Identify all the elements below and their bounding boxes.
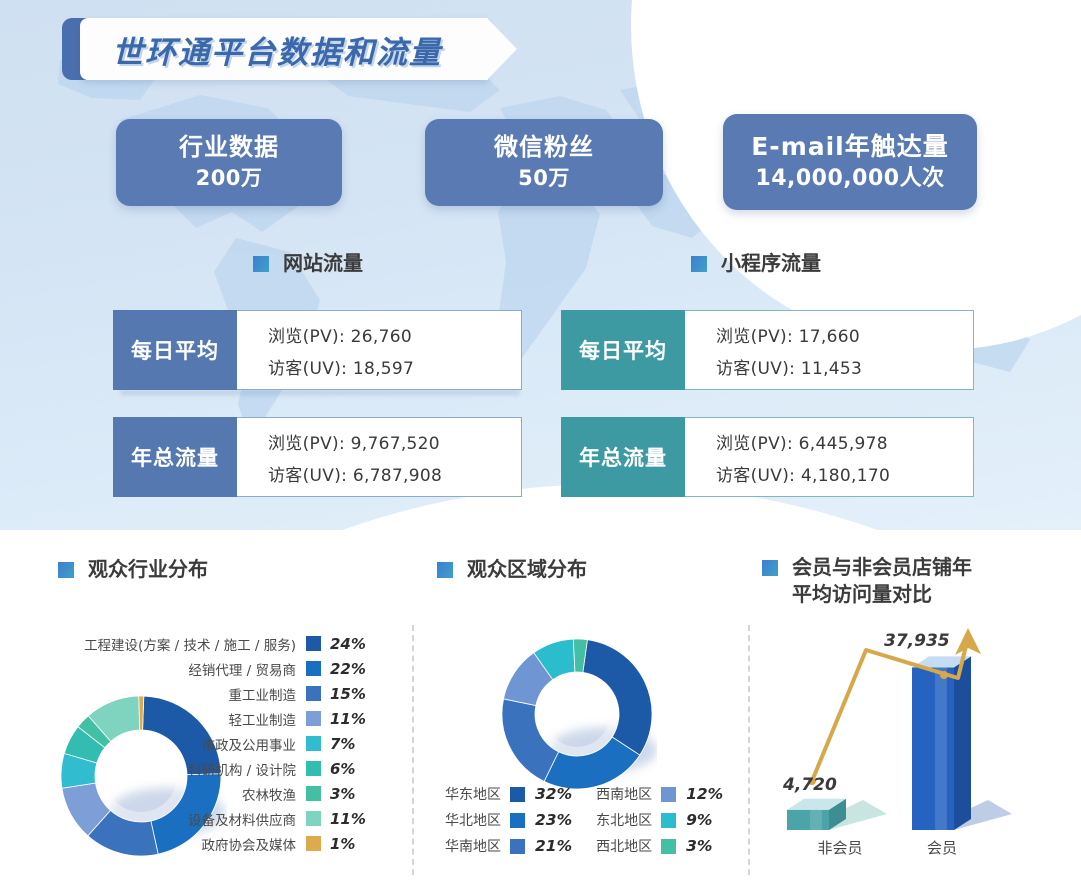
bar-front-member bbox=[912, 667, 954, 830]
legend-item: 设备及材料供应商11% bbox=[82, 806, 372, 831]
legend-item-label: 设备及材料供应商 bbox=[188, 809, 296, 829]
legend-item-value: 3% bbox=[676, 837, 747, 855]
traffic-row-pv: 浏览(PV): 9,767,520 bbox=[268, 429, 521, 454]
legend-item-value: 3% bbox=[330, 785, 372, 803]
legend-item-label: 东北地区 bbox=[596, 810, 661, 830]
traffic-card-website-daily: 每日平均 浏览(PV): 26,760 访客(UV): 18,597 bbox=[113, 310, 522, 390]
legend-item-value: 22% bbox=[330, 660, 372, 678]
arrow-mid-dot bbox=[940, 671, 948, 679]
legend-item-label: 经销代理 / 贸易商 bbox=[188, 659, 296, 679]
traffic-card-miniprogram-annual: 年总流量 浏览(PV): 6,445,978 访客(UV): 4,180,170 bbox=[561, 417, 974, 497]
legend-color-swatch bbox=[510, 787, 525, 802]
square-bullet-icon bbox=[762, 560, 778, 576]
legend-color-swatch bbox=[306, 786, 321, 801]
legend-item-label: 工程建设(方案 / 技术 / 施工 / 服务) bbox=[84, 634, 296, 654]
traffic-row-uv: 访客(UV): 4,180,170 bbox=[716, 461, 973, 486]
page-title: 世环通平台数据和流量 bbox=[112, 27, 442, 72]
stat-card-industry-data: 行业数据 200万 bbox=[116, 119, 342, 206]
legend-color-swatch bbox=[306, 761, 321, 776]
bar-category-label-member: 会员 bbox=[897, 837, 987, 858]
bar-front-non-member bbox=[787, 810, 829, 830]
section-heading-label: 小程序流量 bbox=[721, 250, 821, 277]
legend-color-swatch bbox=[306, 811, 321, 826]
card-shadow bbox=[120, 390, 520, 395]
section-heading-member-comparison: 会员与非会员店铺年 平均访问量对比 bbox=[762, 554, 1052, 608]
traffic-card-label: 年总流量 bbox=[113, 417, 237, 497]
traffic-row-pv: 浏览(PV): 26,760 bbox=[268, 322, 521, 347]
traffic-row-uv: 访客(UV): 6,787,908 bbox=[268, 461, 521, 486]
section-heading-industry-distribution: 观众行业分布 bbox=[58, 556, 388, 583]
stat-value: 200万 bbox=[196, 164, 263, 192]
legend-item: 轻工业制造11% bbox=[82, 706, 372, 731]
legend-item-value: 24% bbox=[330, 635, 372, 653]
legend-item-label: 华东地区 bbox=[445, 784, 510, 804]
legend-item-label: 西南地区 bbox=[596, 784, 661, 804]
legend-color-swatch bbox=[306, 636, 321, 651]
section-heading-miniprogram-traffic: 小程序流量 bbox=[691, 250, 821, 277]
traffic-row-uv: 访客(UV): 18,597 bbox=[268, 354, 521, 379]
legend-item: 经销代理 / 贸易商22% bbox=[82, 656, 372, 681]
legend-item-label: 华南地区 bbox=[445, 836, 510, 856]
section-heading-label: 网站流量 bbox=[283, 250, 363, 277]
legend-color-swatch bbox=[661, 839, 676, 854]
square-bullet-icon bbox=[691, 256, 707, 272]
legend-color-swatch bbox=[306, 686, 321, 701]
legend-item-label: 西北地区 bbox=[596, 836, 661, 856]
legend-item-value: 1% bbox=[330, 835, 372, 853]
bar-side-member bbox=[954, 656, 971, 830]
traffic-row-pv: 浏览(PV): 6,445,978 bbox=[716, 429, 973, 454]
legend-color-swatch bbox=[306, 836, 321, 851]
traffic-row-uv: 访客(UV): 11,453 bbox=[716, 354, 973, 379]
square-bullet-icon bbox=[437, 562, 453, 578]
legend-color-swatch bbox=[306, 736, 321, 751]
legend-item-value: 11% bbox=[330, 710, 372, 728]
legend-color-swatch bbox=[510, 839, 525, 854]
legend-color-swatch bbox=[306, 661, 321, 676]
column-divider bbox=[412, 625, 414, 875]
legend-item: 农林牧渔3% bbox=[82, 781, 372, 806]
bar-category-label-non-member: 非会员 bbox=[795, 837, 885, 858]
legend-item-value: 6% bbox=[330, 760, 372, 778]
legend-item-value: 12% bbox=[676, 785, 747, 803]
legend-item-value: 11% bbox=[330, 810, 372, 828]
legend-item-label: 市政及公用事业 bbox=[202, 734, 297, 754]
legend-color-swatch bbox=[661, 787, 676, 802]
traffic-card-label: 年总流量 bbox=[561, 417, 685, 497]
traffic-card-label: 每日平均 bbox=[561, 310, 685, 390]
region-distribution-legend: 华东地区32%西南地区12%华北地区23%东北地区9%华南地区21%西北地区3% bbox=[445, 784, 747, 856]
legend-item: 重工业制造15% bbox=[82, 681, 372, 706]
stat-label: E-mail年触达量 bbox=[751, 131, 949, 162]
traffic-card-miniprogram-daily: 每日平均 浏览(PV): 17,660 访客(UV): 11,453 bbox=[561, 310, 974, 390]
industry-distribution-legend: 工程建设(方案 / 技术 / 施工 / 服务)24%经销代理 / 贸易商22%重… bbox=[82, 631, 372, 856]
region-distribution-donut-chart bbox=[497, 636, 657, 796]
traffic-card-website-annual: 年总流量 浏览(PV): 9,767,520 访客(UV): 6,787,908 bbox=[113, 417, 522, 497]
legend-item-value: 9% bbox=[676, 811, 747, 829]
legend-item: 工程建设(方案 / 技术 / 施工 / 服务)24% bbox=[82, 631, 372, 656]
legend-item-value: 32% bbox=[525, 785, 596, 803]
section-heading-label: 会员与非会员店铺年 平均访问量对比 bbox=[792, 554, 972, 608]
traffic-card-body: 浏览(PV): 6,445,978 访客(UV): 4,180,170 bbox=[685, 417, 974, 497]
legend-item-label: 轻工业制造 bbox=[229, 709, 297, 729]
traffic-card-body: 浏览(PV): 9,767,520 访客(UV): 6,787,908 bbox=[237, 417, 522, 497]
stat-card-wechat-fans: 微信粉丝 50万 bbox=[425, 119, 663, 206]
stat-label: 行业数据 bbox=[179, 132, 279, 162]
traffic-card-label: 每日平均 bbox=[113, 310, 237, 390]
stat-card-email-reach: E-mail年触达量 14,000,000人次 bbox=[723, 114, 977, 210]
traffic-row-pv: 浏览(PV): 17,660 bbox=[716, 322, 973, 347]
section-heading-label: 观众区域分布 bbox=[467, 556, 587, 583]
infographic-page: 世环通平台数据和流量 行业数据 200万 微信粉丝 50万 E-mail年触达量… bbox=[0, 0, 1081, 885]
bar-highlight bbox=[810, 810, 822, 830]
section-heading-website-traffic: 网站流量 bbox=[253, 250, 363, 277]
stat-value: 50万 bbox=[518, 164, 570, 192]
legend-item-value: 21% bbox=[525, 837, 596, 855]
heading-line-2: 平均访问量对比 bbox=[792, 582, 932, 606]
member-comparison-bar-chart bbox=[762, 618, 1032, 843]
ribbon-body: 世环通平台数据和流量 bbox=[80, 18, 488, 80]
section-heading-label: 观众行业分布 bbox=[88, 556, 208, 583]
traffic-card-body: 浏览(PV): 17,660 访客(UV): 11,453 bbox=[685, 310, 974, 390]
legend-color-swatch bbox=[510, 813, 525, 828]
legend-item: 市政及公用事业7% bbox=[82, 731, 372, 756]
arrow-head-icon bbox=[955, 628, 981, 655]
legend-item-value: 23% bbox=[525, 811, 596, 829]
column-divider bbox=[748, 625, 750, 875]
bar-value-label-member: 37,935 bbox=[884, 631, 950, 651]
stat-label: 微信粉丝 bbox=[494, 132, 594, 162]
legend-item-label: 农林牧渔 bbox=[242, 784, 296, 804]
square-bullet-icon bbox=[253, 256, 269, 272]
legend-item-value: 7% bbox=[330, 735, 372, 753]
legend-item: 科研机构 / 设计院6% bbox=[82, 756, 372, 781]
section-heading-region-distribution: 观众区域分布 bbox=[437, 556, 737, 583]
bar-highlight bbox=[935, 667, 947, 830]
stat-value: 14,000,000人次 bbox=[755, 164, 944, 194]
legend-item-label: 华北地区 bbox=[445, 810, 510, 830]
bar-value-label-non-member: 4,720 bbox=[783, 775, 837, 795]
legend-color-swatch bbox=[306, 711, 321, 726]
traffic-card-body: 浏览(PV): 26,760 访客(UV): 18,597 bbox=[237, 310, 522, 390]
legend-item: 政府协会及媒体1% bbox=[82, 831, 372, 856]
legend-item-label: 政府协会及媒体 bbox=[202, 834, 297, 854]
heading-line-1: 会员与非会员店铺年 bbox=[792, 555, 972, 579]
legend-color-swatch bbox=[661, 813, 676, 828]
legend-item-label: 重工业制造 bbox=[229, 684, 297, 704]
legend-item-value: 15% bbox=[330, 685, 372, 703]
square-bullet-icon bbox=[58, 562, 74, 578]
legend-item-label: 科研机构 / 设计院 bbox=[188, 759, 296, 779]
